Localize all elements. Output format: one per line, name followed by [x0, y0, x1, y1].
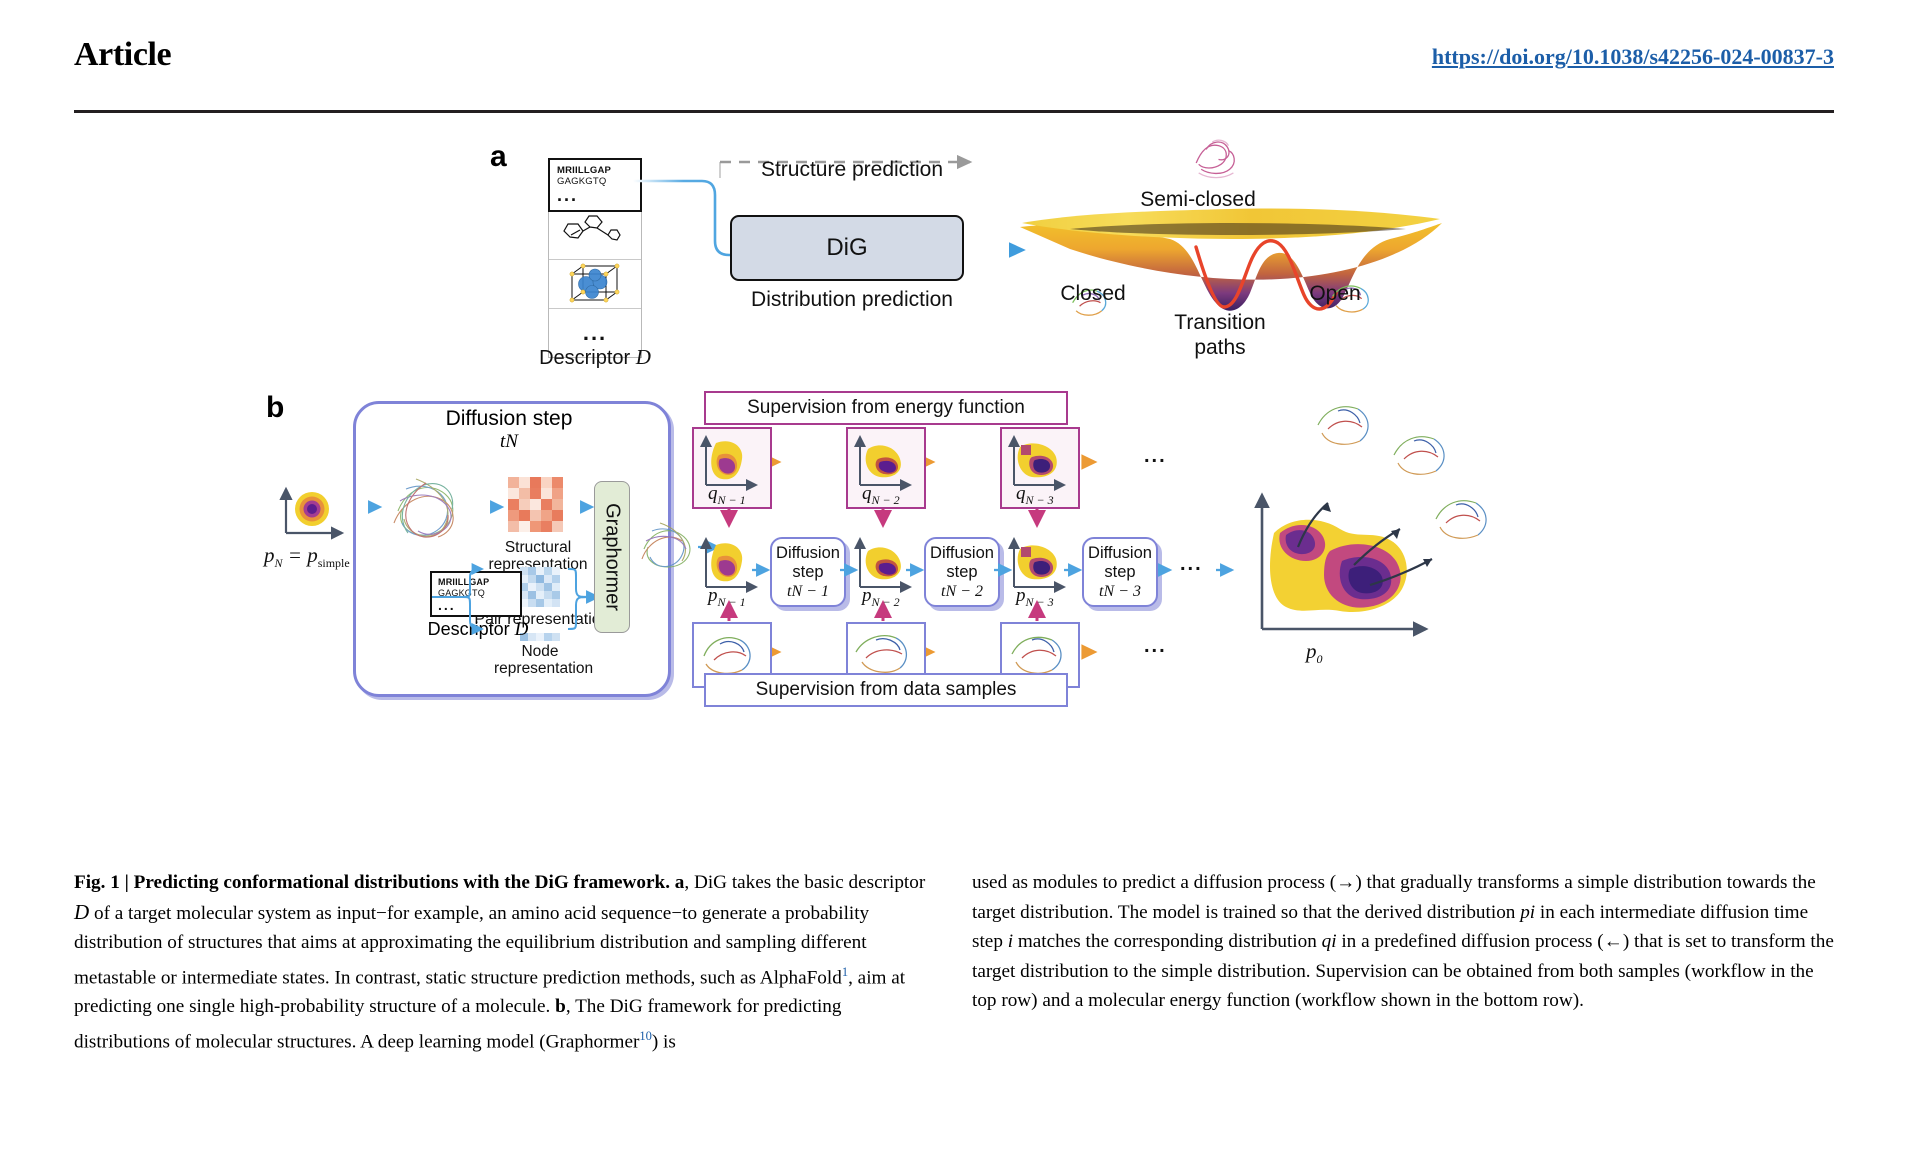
supervision-data-label: Supervision from data samples	[704, 673, 1068, 707]
seq-line1: MRIILLGAP	[557, 165, 611, 176]
caption-left-text-5: ) is	[652, 1031, 676, 1052]
diffusion-box-3-time: tN − 3	[1099, 582, 1141, 601]
p-simple-label: pN = psimple	[264, 543, 350, 571]
descriptor-sequence-cell: MRIILLGAP GAGKGTQ ...	[548, 158, 642, 212]
middle-row-ellipsis: ...	[1180, 553, 1203, 576]
reverse-arrow-top-1	[762, 453, 854, 473]
structure-prediction-label: Structure prediction	[722, 158, 982, 182]
diffusion-step-title: Diffusion step tN	[353, 407, 665, 453]
reverse-arrow-top-2	[916, 453, 1008, 473]
panel-a-letter: a	[490, 140, 507, 174]
graphormer-box[interactable]: Graphormer	[594, 481, 630, 633]
caption-symbol-d: D	[74, 900, 89, 924]
caption-b-bold: b	[555, 996, 566, 1017]
q-cell-2: qN − 2	[846, 427, 926, 509]
descriptor-caption-a: Descriptor D	[490, 345, 700, 370]
diffusion-step-box-1[interactable]: Diffusion step tN − 1	[770, 537, 846, 607]
distribution-prediction-label: Distribution prediction	[712, 288, 992, 312]
caption-column-right: used as modules to predict a diffusion p…	[972, 868, 1834, 1016]
output-structure-icon-2	[1386, 425, 1458, 483]
p-simple-plot	[274, 481, 354, 545]
diffusion-box-1-time: tN − 1	[787, 582, 829, 601]
sample-structure-icon-3	[1002, 624, 1072, 680]
p0-label: p0	[1306, 639, 1323, 667]
caption-left-text-1: , DiG takes the basic descriptor	[684, 872, 925, 893]
diffusion-step-title-text: Diffusion step	[353, 407, 665, 431]
crystal-lattice-icon	[564, 262, 626, 306]
forward-arrow-2	[840, 561, 864, 579]
q-label-3: qN − 3	[1016, 483, 1054, 508]
forward-arrow-6	[1158, 561, 1178, 579]
q-label-2: qN − 2	[862, 483, 900, 508]
page-root: Article https://doi.org/10.1038/s42256-0…	[0, 0, 1908, 1152]
seq-ellipsis: ...	[557, 191, 611, 199]
descriptor-symbol: D	[636, 345, 651, 369]
diffusion-box-2-time: tN − 2	[941, 582, 983, 601]
transition-line2: paths	[1130, 335, 1310, 360]
graphormer-output-structure-icon	[636, 517, 696, 577]
open-label: Open	[1280, 282, 1390, 306]
q-label-1: qN − 1	[708, 483, 746, 508]
page-header: Article https://doi.org/10.1038/s42256-0…	[0, 0, 1908, 96]
bottom-row-ellipsis: ...	[1144, 635, 1167, 658]
caption-ref-10[interactable]: 10	[639, 1029, 652, 1043]
caption-sym-pi: pi	[1520, 902, 1535, 923]
descriptor-stack-a: MRIILLGAP GAGKGTQ ...	[548, 158, 642, 358]
figure-panel-a: a MRIILLGAP GAGKGTQ ...	[490, 140, 1450, 380]
forward-arrow-3	[906, 561, 930, 579]
q-cell-1: qN − 1	[692, 427, 772, 509]
p-label-1: pN − 1	[708, 585, 746, 610]
diffusion-step-time: tN	[353, 431, 665, 453]
forward-arrow-1	[752, 561, 776, 579]
semi-closed-label: Semi-closed	[1088, 188, 1308, 212]
doi-link[interactable]: https://doi.org/10.1038/s42256-024-00837…	[1432, 44, 1834, 70]
descriptor-molecule-cell	[549, 211, 641, 260]
caption-column-left: Fig. 1 | Predicting conformational distr…	[74, 868, 936, 1057]
caption-right-text-3: matches the corresponding distribution	[1013, 931, 1322, 952]
diffusion-box-3-line1: Diffusion	[1088, 544, 1152, 563]
molecule-icon	[560, 215, 630, 255]
output-structure-icon-1	[1310, 395, 1382, 453]
descriptor-caption-text: Descriptor	[539, 347, 636, 369]
caption-figure-label: Fig. 1 |	[74, 872, 134, 893]
p-label-2: pN − 2	[862, 585, 900, 610]
forward-arrow-5	[1064, 561, 1088, 579]
sample-arrow-1	[762, 643, 854, 663]
panel-b-letter: b	[266, 391, 284, 425]
diffusion-box-2-line2: step	[946, 563, 977, 582]
closed-label: Closed	[1028, 282, 1158, 306]
sample-arrow-2	[916, 643, 1008, 663]
caption-sym-qi: qi	[1322, 931, 1337, 952]
descriptor-crystal-cell	[549, 260, 641, 309]
caption-a-bold: a	[675, 872, 685, 893]
diffusion-box-1-line2: step	[792, 563, 823, 582]
q-cell-3: qN − 3	[1000, 427, 1080, 509]
descriptor-ellipsis: ...	[583, 329, 607, 337]
header-divider	[74, 110, 1834, 113]
p-label-3: pN − 3	[1016, 585, 1054, 610]
diffusion-box-2-line1: Diffusion	[930, 544, 994, 563]
dig-model-box[interactable]: DiG	[730, 215, 964, 281]
caption-figure-title: Predicting conformational distributions …	[134, 872, 670, 893]
transition-line1: Transition	[1130, 310, 1310, 335]
sample-structure-icon-1	[694, 624, 764, 680]
sample-structure-icon-2	[848, 624, 918, 680]
diffusion-box-3-line2: step	[1104, 563, 1135, 582]
forward-arrow-4	[994, 561, 1018, 579]
caption-left-text-2: of a target molecular system as input−fo…	[74, 903, 869, 988]
diffusion-box-1-line1: Diffusion	[776, 544, 840, 563]
figure-panel-b: b Diffusion step tN pN = psimple	[258, 385, 1658, 715]
top-row-ellipsis: ...	[1144, 445, 1167, 468]
page-title: Article	[74, 36, 171, 74]
diffusion-step-box-3[interactable]: Diffusion step tN − 3	[1082, 537, 1158, 607]
forward-arrow-7	[1216, 561, 1240, 579]
transition-paths-label: Transition paths	[1130, 310, 1310, 360]
semi-closed-structure-icon	[1196, 140, 1234, 177]
output-structure-icon-3	[1428, 489, 1500, 547]
supervision-energy-label: Supervision from energy function	[704, 391, 1068, 425]
diffusion-step-box-2[interactable]: Diffusion step tN − 2	[924, 537, 1000, 607]
graphormer-label: Graphormer	[601, 503, 624, 611]
